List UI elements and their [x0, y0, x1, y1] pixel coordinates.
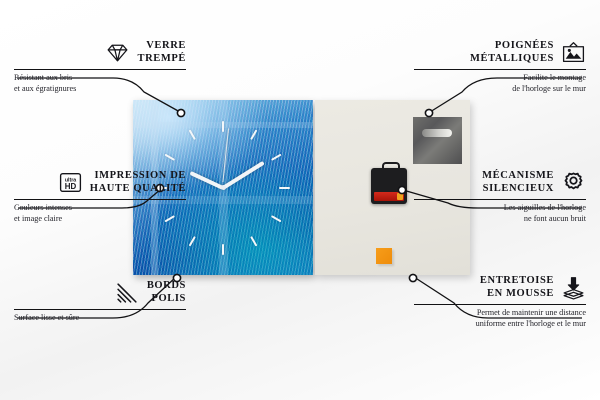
battery-part	[374, 192, 404, 201]
feature-impression-haute-qualite[interactable]: ultra HD IMPRESSION DEHAUTE QUALITÉ Coul…	[14, 170, 186, 224]
feature-poignees-metalliques[interactable]: POIGNÉESMÉTALLIQUES Facilite le montaged…	[414, 40, 586, 94]
feature-description: Permet de maintenir une distanceuniforme…	[414, 308, 586, 329]
feature-description: Les aiguilles de l'horlogene font aucun …	[414, 203, 586, 224]
polished-edge-icon	[115, 280, 140, 305]
feature-title: VERRETREMPÉ	[137, 40, 186, 65]
feature-entretoise-en-mousse[interactable]: ENTRETOISEEN MOUSSE Permet de maintenir …	[414, 275, 586, 329]
divider	[414, 304, 586, 305]
feature-title: BORDSPOLIS	[147, 280, 186, 305]
clock-hour-hand	[190, 170, 224, 189]
ultra-hd-icon: ultra HD	[58, 170, 83, 195]
infographic-canvas: VERRETREMPÉ Résistant aux briset aux égr…	[0, 0, 600, 400]
feature-description: Couleurs intenseset image claire	[14, 203, 186, 224]
metal-handle-part	[413, 117, 462, 164]
feature-description: Facilite le montagede l'horloge sur le m…	[414, 73, 586, 94]
svg-text:HD: HD	[65, 182, 77, 191]
divider	[14, 309, 186, 310]
foam-spacer-icon	[561, 275, 586, 300]
feature-bords-polis[interactable]: BORDSPOLIS Surface lisse et sûre	[14, 280, 186, 324]
feature-title: MÉCANISMESILENCIEUX	[482, 170, 554, 195]
clock-minute-hand	[222, 160, 265, 189]
feature-title: POIGNÉESMÉTALLIQUES	[470, 40, 554, 65]
foam-spacer-part	[376, 248, 392, 264]
feature-title: ENTRETOISEEN MOUSSE	[480, 275, 554, 300]
feature-title: IMPRESSION DEHAUTE QUALITÉ	[90, 170, 186, 195]
divider	[414, 69, 586, 70]
divider	[14, 199, 186, 200]
feature-mecanisme-silencieux[interactable]: MÉCANISMESILENCIEUX Les aiguilles de l'h…	[414, 170, 586, 224]
feature-description: Surface lisse et sûre	[14, 313, 186, 324]
feature-description: Résistant aux briset aux égratignures	[14, 73, 186, 94]
clock-second-hand	[222, 128, 229, 182]
divider	[14, 69, 186, 70]
diamond-icon	[105, 40, 130, 65]
divider	[414, 199, 586, 200]
clock-hub	[221, 185, 226, 190]
picture-frame-hanger-icon	[561, 40, 586, 65]
gear-icon	[561, 170, 586, 195]
feature-verre-trempe[interactable]: VERRETREMPÉ Résistant aux briset aux égr…	[14, 40, 186, 94]
clock-mechanism-part	[371, 168, 407, 204]
